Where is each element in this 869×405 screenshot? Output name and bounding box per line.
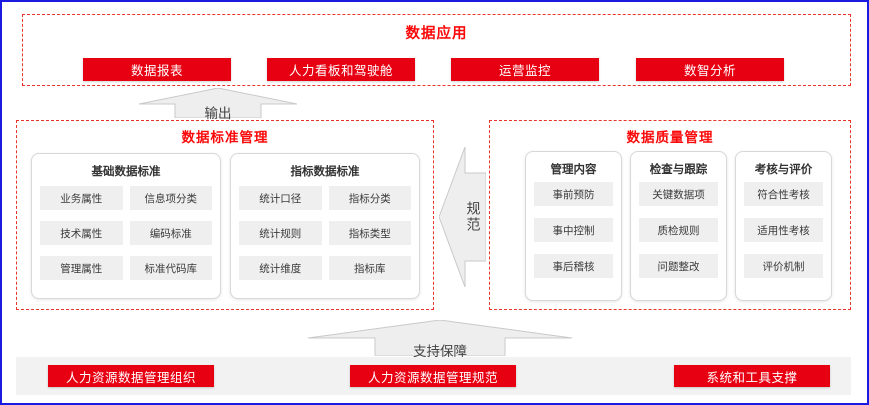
standards-card-index-head: 指标数据标准 (231, 163, 419, 179)
chip-basic-4[interactable]: 管理属性 (40, 256, 123, 280)
standards-card-basic: 基础数据标准 业务属性 信息项分类 技术属性 编码标准 管理属性 标准代码库 (31, 153, 221, 299)
chip-index-0[interactable]: 统计口径 (239, 186, 322, 210)
standards-card-basic-head: 基础数据标准 (32, 163, 220, 179)
chip-basic-5[interactable]: 标准代码库 (130, 256, 213, 280)
app-button-2[interactable]: 运营监控 (451, 58, 599, 81)
chip-index-4[interactable]: 统计维度 (239, 256, 322, 280)
support-button-0[interactable]: 人力资源数据管理组织 (48, 365, 214, 387)
quality-card-content-chips: 事前预防 事中控制 事后稽核 (534, 182, 613, 278)
chip-qa2-2[interactable]: 评价机制 (744, 254, 823, 278)
chip-basic-1[interactable]: 信息项分类 (130, 186, 213, 210)
support-arrow-up: 支持保障 (308, 320, 572, 356)
data-application-title: 数据应用 (23, 22, 850, 43)
diagram-canvas: 数据应用 数据报表 人力看板和驾驶舱 运营监控 数智分析 输出 数据标准管理 基… (0, 0, 869, 405)
chip-qa2-0[interactable]: 符合性考核 (744, 182, 823, 206)
data-standards-panel: 数据标准管理 基础数据标准 业务属性 信息项分类 技术属性 编码标准 管理属性 … (16, 120, 434, 310)
chip-qa1-0[interactable]: 关键数据项 (639, 182, 718, 206)
quality-card-content-head: 管理内容 (526, 161, 621, 177)
app-button-1[interactable]: 人力看板和驾驶舱 (267, 58, 415, 81)
app-button-3[interactable]: 数智分析 (636, 58, 784, 81)
chip-qa0-0[interactable]: 事前预防 (534, 182, 613, 206)
chip-qa0-1[interactable]: 事中控制 (534, 218, 613, 242)
quality-card-assessment-chips: 符合性考核 适用性考核 评价机制 (744, 182, 823, 278)
chip-basic-0[interactable]: 业务属性 (40, 186, 123, 210)
chip-index-5[interactable]: 指标库 (329, 256, 412, 280)
chip-basic-2[interactable]: 技术属性 (40, 221, 123, 245)
standards-card-index: 指标数据标准 统计口径 指标分类 统计规则 指标类型 统计维度 指标库 (230, 153, 420, 299)
support-button-2[interactable]: 系统和工具支撑 (674, 365, 830, 387)
chip-index-3[interactable]: 指标类型 (329, 221, 412, 245)
standards-card-basic-chips: 业务属性 信息项分类 技术属性 编码标准 管理属性 标准代码库 (40, 186, 212, 280)
norm-arrow-left: 规范 (439, 147, 486, 287)
standards-card-index-chips: 统计口径 指标分类 统计规则 指标类型 统计维度 指标库 (239, 186, 411, 280)
chip-basic-3[interactable]: 编码标准 (130, 221, 213, 245)
app-button-0[interactable]: 数据报表 (83, 58, 231, 81)
support-button-1[interactable]: 人力资源数据管理规范 (350, 365, 516, 387)
quality-card-inspection-chips: 关键数据项 质检规则 问题整改 (639, 182, 718, 278)
chip-qa0-2[interactable]: 事后稽核 (534, 254, 613, 278)
chip-qa2-1[interactable]: 适用性考核 (744, 218, 823, 242)
chip-qa1-2[interactable]: 问题整改 (639, 254, 718, 278)
support-band: 人力资源数据管理组织 人力资源数据管理规范 系统和工具支撑 (16, 357, 851, 395)
quality-card-inspection: 检查与跟踪 关键数据项 质检规则 问题整改 (630, 151, 727, 301)
data-application-panel: 数据应用 数据报表 人力看板和驾驶舱 运营监控 数智分析 (22, 14, 851, 86)
output-arrow-up: 输出 (139, 88, 297, 118)
data-quality-title: 数据质量管理 (490, 126, 850, 146)
chip-index-2[interactable]: 统计规则 (239, 221, 322, 245)
quality-card-inspection-head: 检查与跟踪 (631, 161, 726, 177)
chip-index-1[interactable]: 指标分类 (329, 186, 412, 210)
quality-card-content: 管理内容 事前预防 事中控制 事后稽核 (525, 151, 622, 301)
quality-card-assessment-head: 考核与评价 (736, 161, 831, 177)
data-quality-panel: 数据质量管理 管理内容 事前预防 事中控制 事后稽核 检查与跟踪 关键数据项 质… (489, 120, 851, 310)
data-standards-title: 数据标准管理 (17, 126, 433, 146)
quality-card-assessment: 考核与评价 符合性考核 适用性考核 评价机制 (735, 151, 832, 301)
chip-qa1-1[interactable]: 质检规则 (639, 218, 718, 242)
